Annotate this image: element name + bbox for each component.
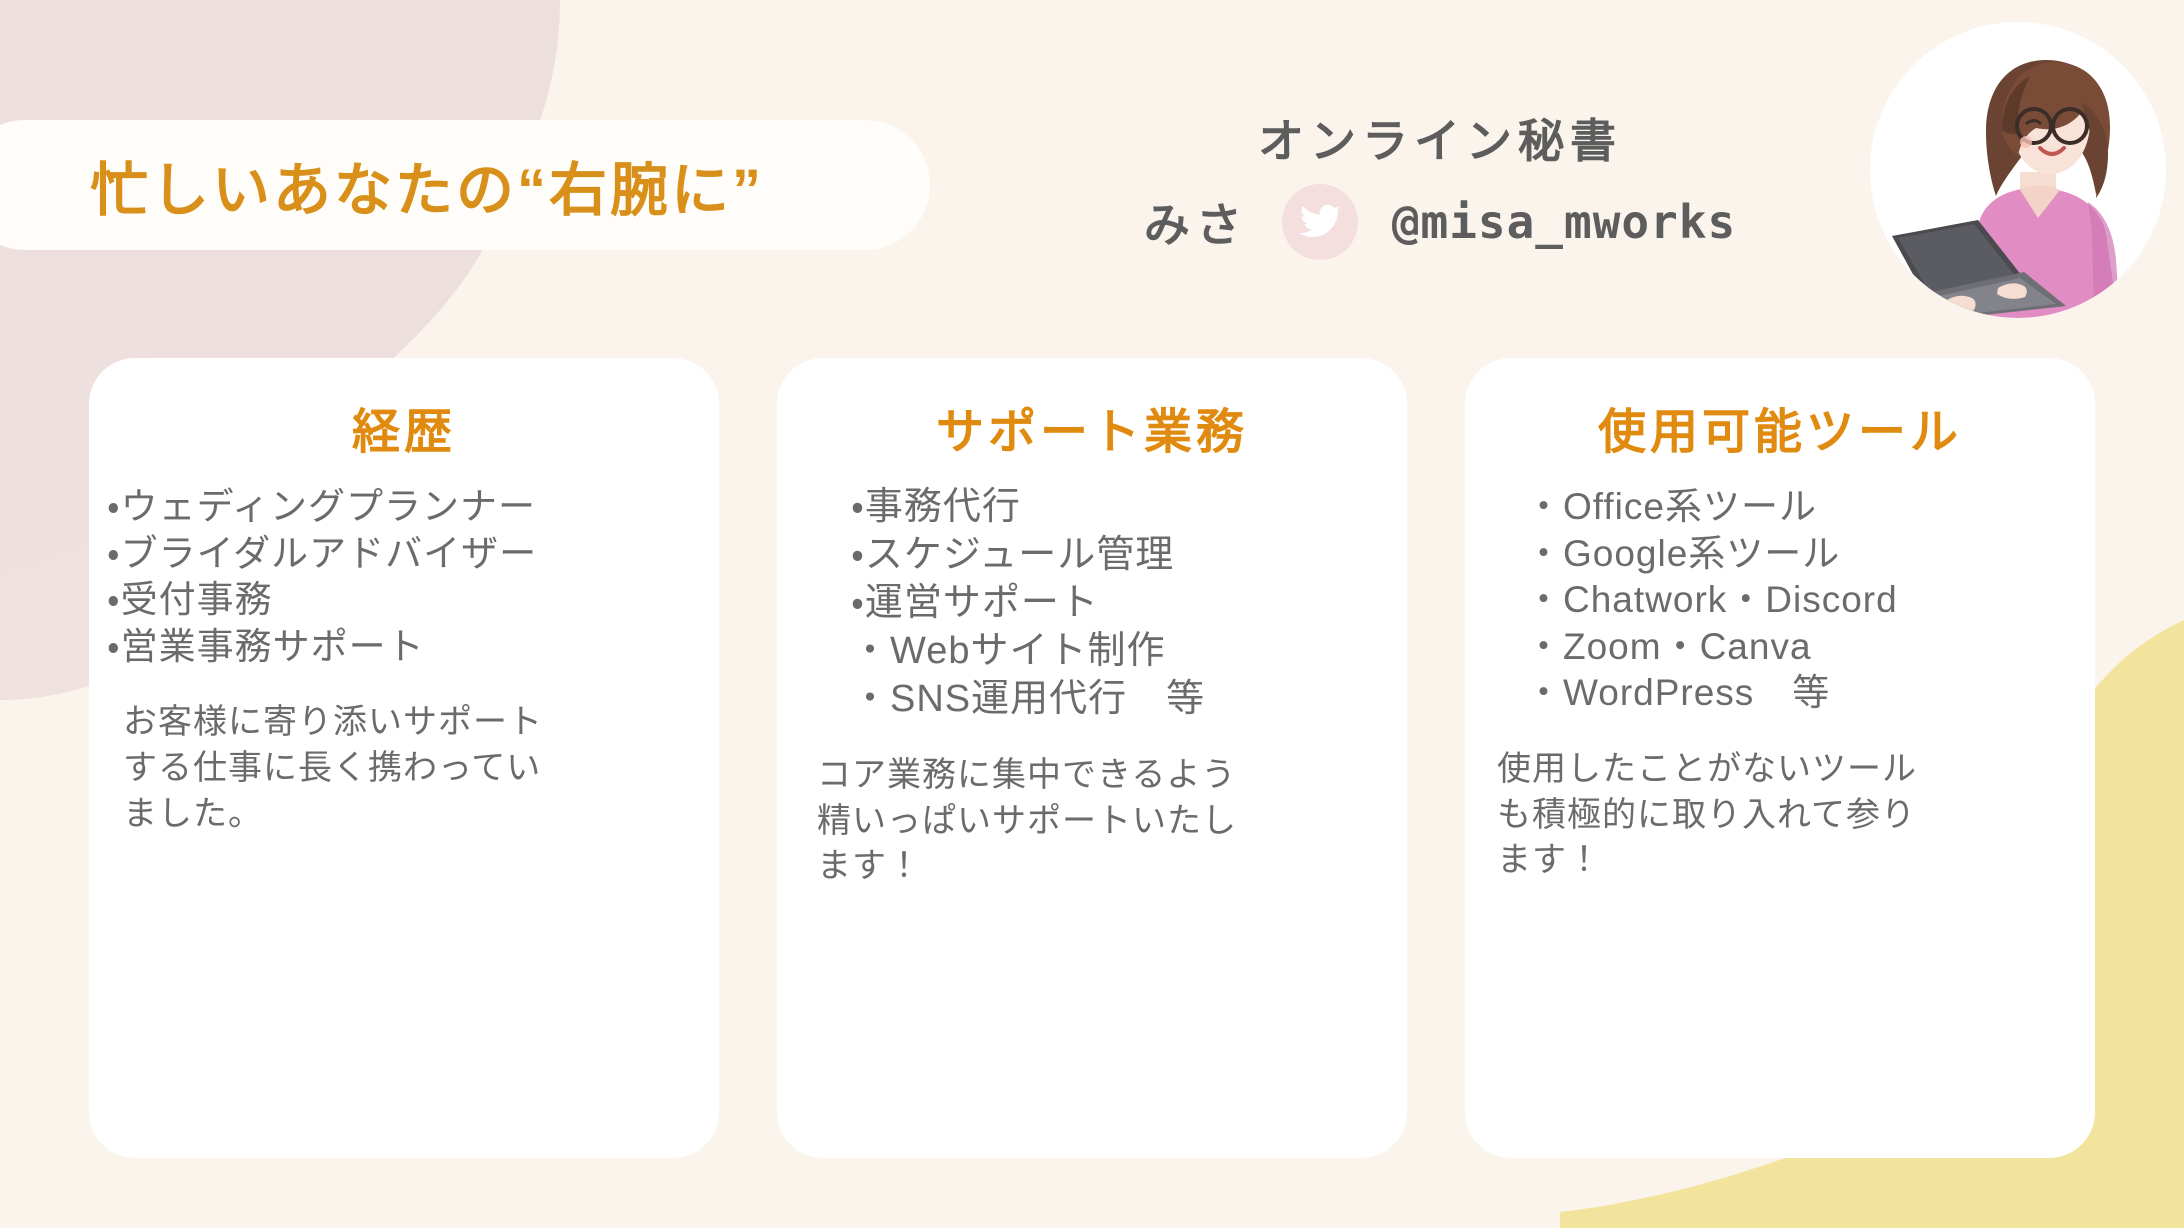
card-title: 使用可能ツール [1465,392,2095,462]
card-title: 経歴 [89,392,719,462]
card-available-tools: 使用可能ツール Office系ツール Google系ツール Chatwork・D… [1465,358,2095,1158]
list-item: ブライダルアドバイザー [107,531,719,578]
list-item: Office系ツール [1525,484,2095,531]
list-item: Zoom・Canva [1525,624,2095,671]
card-note: コア業務に集中できるよう 精いっぱいサポートいたし ます！ [777,753,1407,890]
profile-block: オンライン秘書 みさ @misa_mworks [1050,115,1830,260]
page-title: 忙しいあなたの“右腕に” [90,143,764,227]
list-item: 運営サポート [851,580,1407,628]
list-item: Webサイト制作 [851,628,1407,676]
profile-role: オンライン秘書 [1050,115,1830,168]
cards-row: 経歴 ウェディングプランナー ブライダルアドバイザー 受付事務 営業事務サポート… [0,358,2184,1158]
card-title: サポート業務 [777,392,1407,462]
headline-banner: 忙しいあなたの“右腕に” [0,120,930,250]
card-bullet-list: ウェディングプランナー ブライダルアドバイザー 受付事務 営業事務サポート [89,484,719,670]
list-item: WordPress 等 [1525,670,2095,717]
list-item: Google系ツール [1525,531,2095,578]
list-item: ウェディングプランナー [107,484,719,531]
list-item: SNS運用代行 等 [851,676,1407,724]
profile-nickname: みさ [1144,189,1248,255]
card-support-services: サポート業務 事務代行 スケジュール管理 運営サポート Webサイト制作 SNS… [777,358,1407,1158]
card-note: 使用したことがないツール も積極的に取り入れて参り ます！ [1465,747,2095,884]
list-item: 事務代行 [851,484,1407,532]
card-career: 経歴 ウェディングプランナー ブライダルアドバイザー 受付事務 営業事務サポート… [89,358,719,1158]
card-bullet-list: Office系ツール Google系ツール Chatwork・Discord Z… [1465,484,2095,717]
twitter-handle[interactable]: @misa_mworks [1392,195,1736,249]
avatar [1870,22,2166,318]
list-item: Chatwork・Discord [1525,577,2095,624]
list-item: 受付事務 [107,577,719,624]
twitter-bird-icon[interactable] [1282,184,1358,260]
list-item: 営業事務サポート [107,624,719,671]
card-note: お客様に寄り添いサポート する仕事に長く携わってい ました。 [89,700,719,837]
profile-handle-row: みさ @misa_mworks [1050,184,1830,260]
list-item: スケジュール管理 [851,532,1407,580]
card-bullet-list: 事務代行 スケジュール管理 運営サポート Webサイト制作 SNS運用代行 等 [777,484,1407,723]
